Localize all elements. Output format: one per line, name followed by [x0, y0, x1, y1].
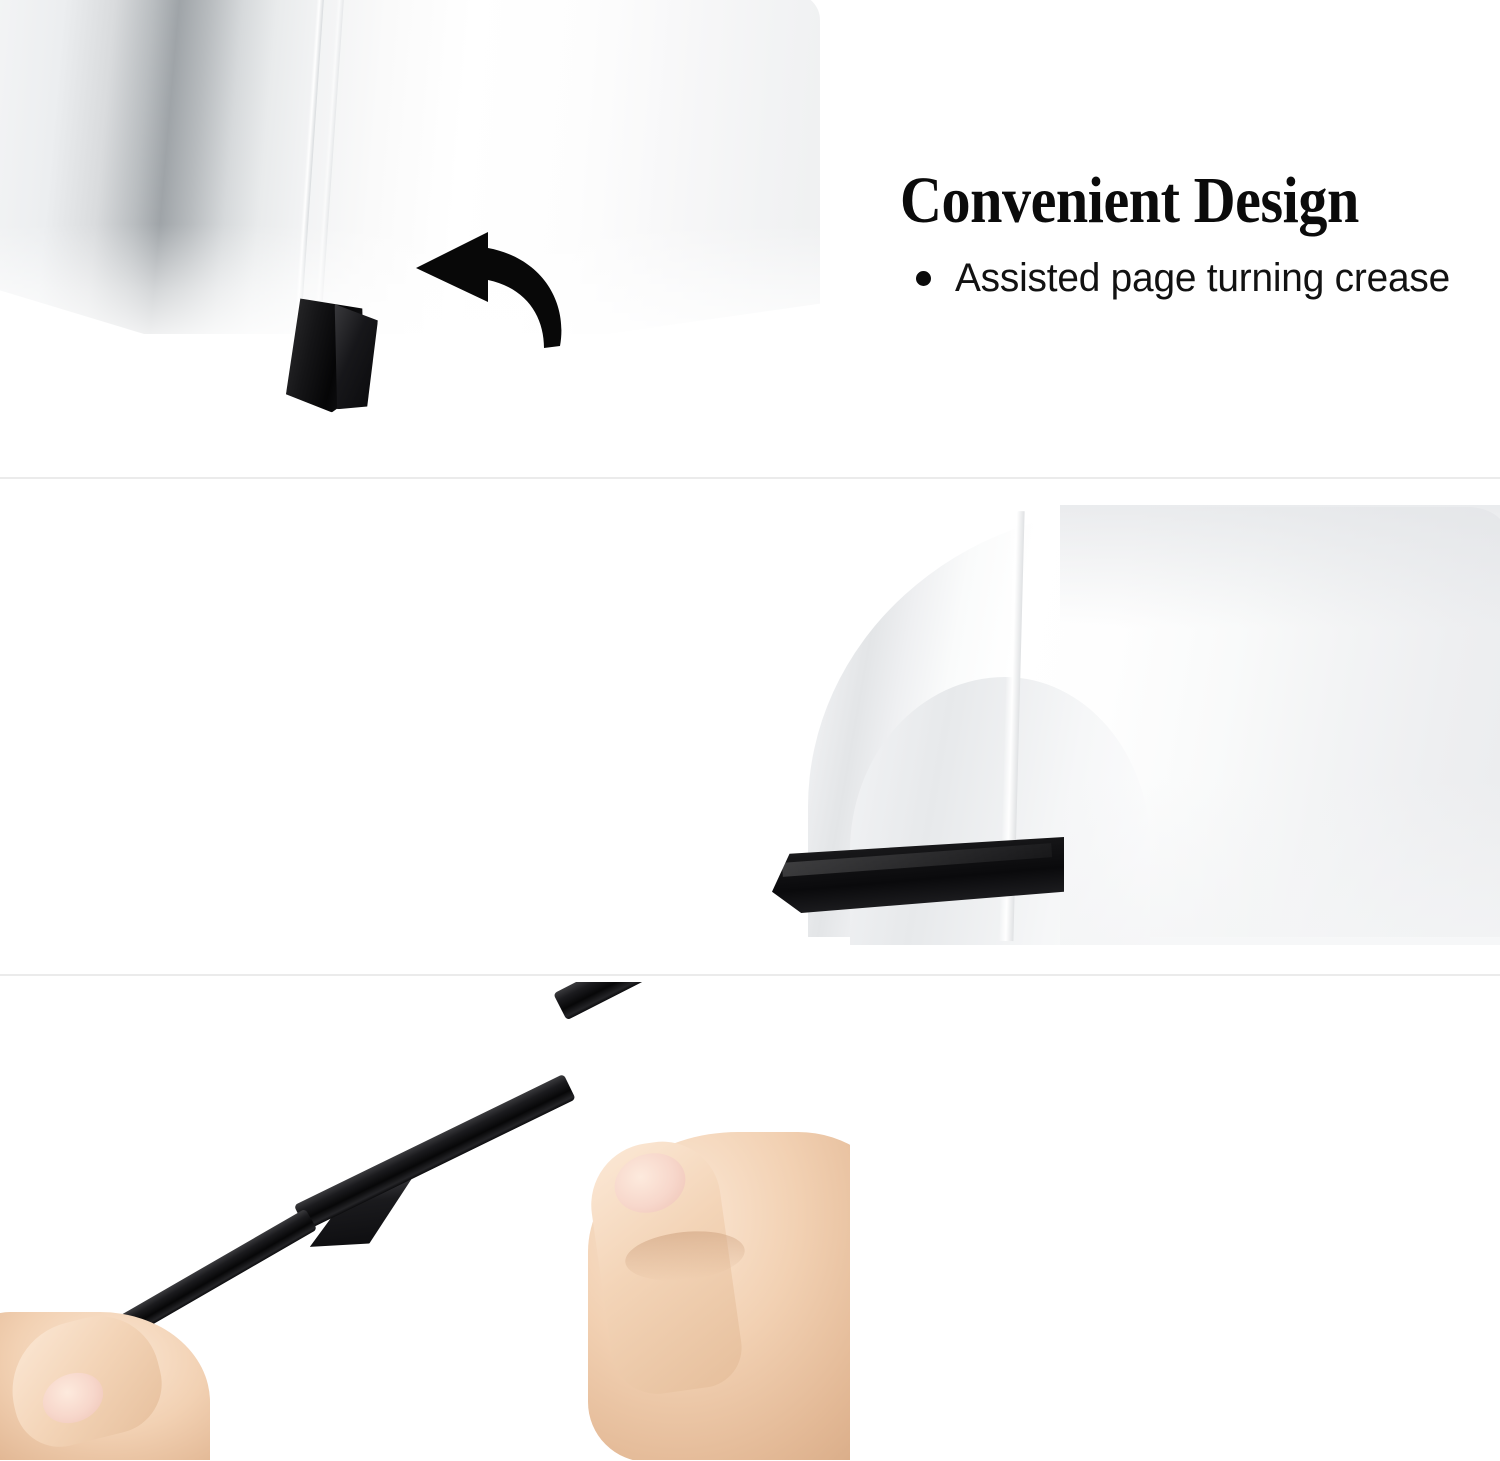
- sliding-bar-segment-middle: [294, 1074, 576, 1231]
- feature-bullet-label-1: Assisted page turning crease: [955, 256, 1450, 301]
- pp-sheet-shading: [1060, 505, 1500, 945]
- feature-panel-reliable-pp-material: Reliable PP Material Free to bend withou…: [0, 479, 1500, 975]
- feature-bullet-1: Assisted page turning crease: [916, 256, 1465, 301]
- page-turn-arrow-icon: [392, 228, 582, 358]
- product-photo-bent-sheet: [760, 497, 1500, 975]
- product-feature-infographic: Convenient Design Assisted page turning …: [0, 0, 1500, 1461]
- feature-panel-premium-sliding-bar: Premium Sliding Bar 360° torsion without…: [0, 976, 1500, 1461]
- sliding-bar-segment-upper: [553, 982, 850, 1020]
- product-photo-twisting-bar: [0, 982, 850, 1460]
- feature-headline-1: Convenient Design: [900, 168, 1397, 234]
- feature-text-block-1: Convenient Design Assisted page turning …: [900, 168, 1465, 301]
- bullet-dot-icon: [916, 271, 931, 286]
- feature-panel-convenient-design: Convenient Design Assisted page turning …: [0, 0, 1500, 478]
